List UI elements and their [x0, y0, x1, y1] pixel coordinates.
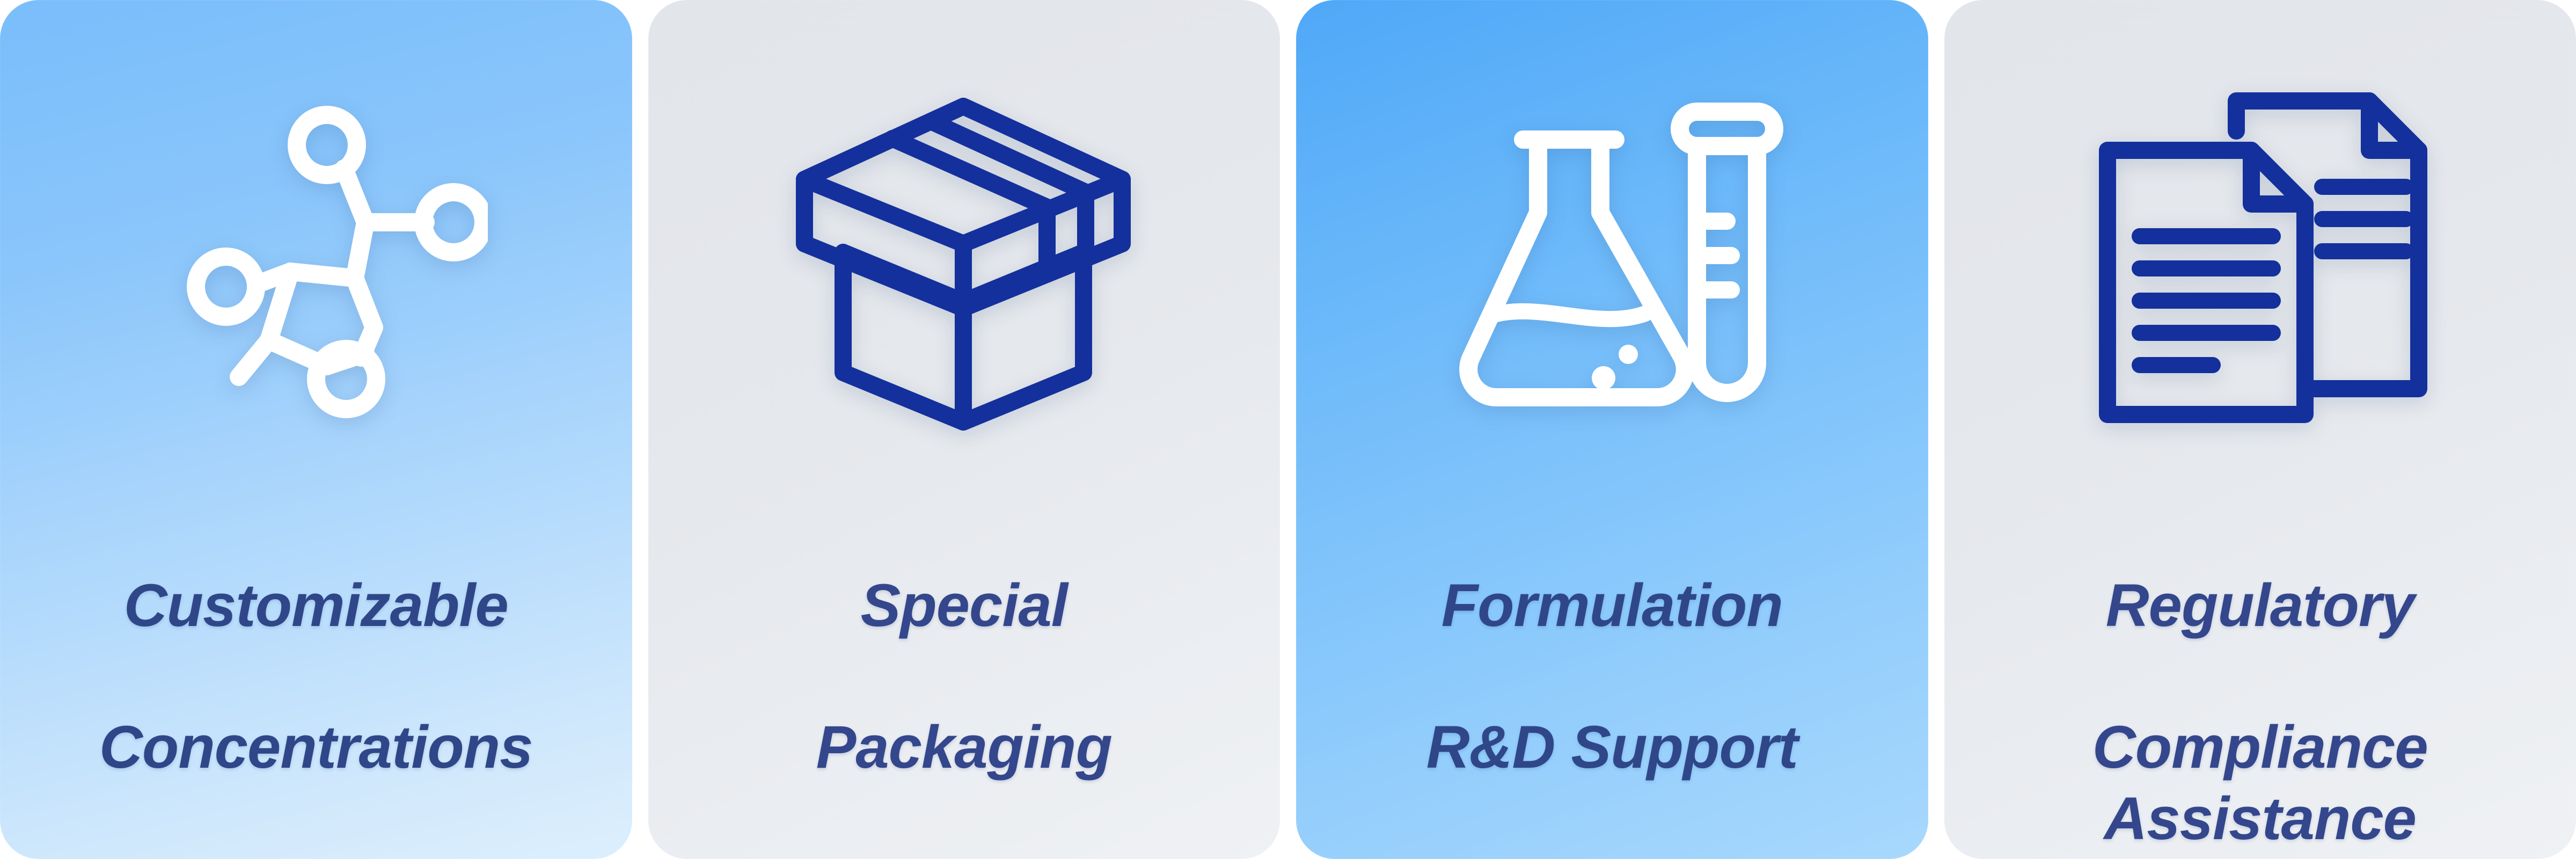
feature-card-label-line1: Special	[861, 572, 1067, 639]
feature-card-label-line1: Regulatory	[2106, 572, 2414, 639]
feature-cards-row: Customizable Concentrations	[0, 0, 2576, 859]
documents-icon	[1944, 0, 2576, 499]
feature-card-label-line1: Formulation	[1441, 572, 1783, 639]
feature-card-special-packaging[interactable]: Special Packaging	[648, 0, 1280, 859]
feature-card-label: Special Packaging	[648, 499, 1280, 783]
flask-and-test-tube-icon	[1296, 0, 1928, 499]
feature-card-label: Formulation R&D Support	[1296, 499, 1928, 783]
feature-card-label-line1: Customizable	[124, 572, 508, 639]
feature-card-label-line2: Packaging	[816, 714, 1112, 781]
feature-card-regulatory-compliance-assistance[interactable]: Regulatory Compliance Assistance	[1944, 0, 2576, 859]
package-box-icon	[648, 0, 1280, 499]
feature-card-label-line2: Compliance Assistance	[2092, 714, 2428, 851]
feature-card-label-line2: Concentrations	[99, 714, 532, 781]
feature-card-label-line2: R&D Support	[1426, 714, 1798, 781]
feature-card-label: Customizable Concentrations	[0, 499, 632, 783]
feature-card-formulation-rd-support[interactable]: Formulation R&D Support	[1296, 0, 1928, 859]
feature-card-customizable-concentrations[interactable]: Customizable Concentrations	[0, 0, 632, 859]
molecule-icon	[0, 0, 632, 499]
feature-card-label: Regulatory Compliance Assistance	[1944, 499, 2576, 854]
